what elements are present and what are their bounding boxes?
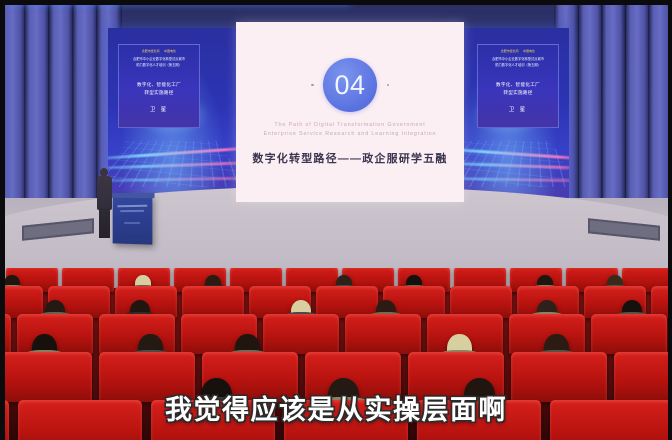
slide-english-line-1: The Path of Digital Transformation Gover… [274,121,425,130]
info-board-logos: 合肥市经信局 中国电信 [501,49,535,54]
info-board-left: 合肥市经信局 中国电信 合肥市中小企业数字化转型试点城市 助力数字化人才培训（第… [118,44,200,128]
podium-text-line [117,205,147,208]
info-board-speaker: 卫 星 [509,105,527,113]
podium-text-line [120,210,144,212]
slide-chinese-title: 数字化转型路径——政企服研学五融 [252,150,447,166]
info-board-topic-2: 转型实施路径 [503,89,532,96]
presenter-speaker [97,168,113,238]
info-board-topic-2: 转型实施路径 [144,89,173,96]
letterbox-left [0,0,5,440]
logo-right-text: 中国电信 [164,49,176,54]
info-board-header-1: 合肥市中小企业数字化转型试点城市 [482,57,555,62]
podium-top-surface [111,193,155,198]
badge-dot-left-icon [311,84,314,87]
slide-content: 04 The Path of Digital Transformation Go… [236,22,464,202]
info-board-speaker: 卫 星 [150,105,168,113]
info-board-header-2: 助力数字化人才培训（第五期） [482,63,555,68]
logo-left-text: 合肥市经信局 [501,49,519,54]
slide-number-text: 04 [334,70,365,101]
podium [113,195,153,244]
letterbox-top [0,0,672,5]
auditorium-seat [591,314,667,354]
main-projection-screen: 04 The Path of Digital Transformation Go… [236,22,464,202]
podium-text-line [124,222,140,224]
slide-english-line-2: Enterprise Service Research and Learning… [264,130,437,139]
video-subtitle: 我觉得应该是从实操层面啊 [0,388,672,427]
letterbox-right [668,0,672,440]
presenter-body [97,176,112,210]
logo-left-text: 合肥市经信局 [142,49,160,54]
video-frame: 合肥市经信局 中国电信 合肥市中小企业数字化转型试点城市 助力数字化人才培训（第… [0,0,672,440]
badge-dot-right-icon [387,84,390,87]
info-board-right: 合肥市经信局 中国电信 合肥市中小企业数字化转型试点城市 助力数字化人才培训（第… [477,44,559,128]
auditorium-seat [345,314,421,354]
info-board-header-2: 助力数字化人才培训（第五期） [123,63,196,68]
logo-right-text: 中国电信 [523,49,535,54]
info-board-topic-1: 数字化、智能化工厂 [137,81,181,88]
info-board-topic-1: 数字化、智能化工厂 [496,81,540,88]
presenter-legs [99,208,110,238]
info-board-header-1: 合肥市中小企业数字化转型试点城市 [123,57,196,62]
auditorium-seat [263,314,339,354]
slide-number-badge: 04 [323,58,377,112]
info-board-logos: 合肥市经信局 中国电信 [142,49,176,54]
